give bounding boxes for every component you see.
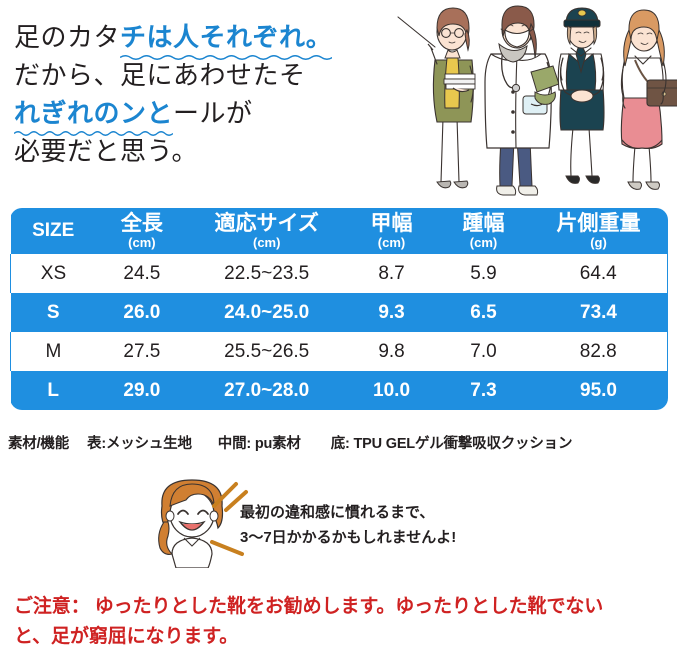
cell-instep: 9.3 [346,293,438,332]
table-body: XS 24.5 22.5~23.5 8.7 5.9 64.4 S 26.0 24… [11,254,668,410]
cell-heel: 7.0 [438,332,530,371]
cell-instep: 8.7 [346,254,438,293]
cell-heel: 7.3 [438,371,530,410]
column-header-size: SIZE [11,208,96,254]
column-header-single-weight: 片側重量 (g) [529,208,667,254]
person-teacher [398,8,475,188]
headline-block: 足のカタチは人それぞれ。 だから、足にあわせたそ れぎれのンとールが 必要だと思… [14,18,434,170]
speech-line-1: 最初の違和感に慣れるまで、 [240,500,660,525]
size-chart-table: SIZE 全長 (cm) 適応サイズ (cm) 甲幅 (cm) 踵幅 (cm) … [10,208,668,410]
person-flight-attendant [558,8,604,183]
headline-line-3-black: ールが [173,98,253,128]
cell-instep: 10.0 [346,371,438,410]
column-header-instep-width-unit: (cm) [346,235,438,250]
cell-instep: 9.8 [346,332,438,371]
column-header-single-weight-unit: (g) [529,235,667,250]
material-bottom: 底: TPU GELゲル衝撃吸収クッション [331,432,573,453]
column-header-instep-width: 甲幅 (cm) [346,208,438,254]
headline-line-1-black: 足のカタ [14,22,120,52]
four-women-illustration: .ln { fill:none; stroke:#3a3330; stroke-… [395,0,677,205]
cell-size: XS [11,254,96,293]
cell-size: L [11,371,96,410]
cell-length: 29.0 [96,371,188,410]
cell-size: M [11,332,96,371]
column-header-length-unit: (cm) [96,235,188,250]
column-header-fit-size-unit: (cm) [188,235,346,250]
cell-heel: 6.5 [438,293,530,332]
headline-line-2-text: だから、足にあわせたそ [14,60,306,90]
material-top: 表:メッシュ生地 [87,432,192,453]
table-row: L 29.0 27.0~28.0 10.0 7.3 95.0 [11,371,668,410]
warning-notice-block: ご注意： ゆったりとした靴をお勧めします。ゆったりとした靴でない と、足が窮屈に… [14,592,674,652]
material-label: 素材/機能 [8,432,69,453]
cell-fit: 24.0~25.0 [188,293,346,332]
column-header-single-weight-main: 片側重量 [529,213,667,235]
column-header-instep-width-main: 甲幅 [346,213,438,235]
speech-line-2: 3〜7日かかるかもしれませんよ! [240,525,660,550]
warning-notice-line-2: と、足が窮屈になります。 [14,622,674,652]
headline-line-4: 必要だと思う。 [14,132,434,170]
cell-weight: 95.0 [529,371,667,410]
person-doctor [485,6,559,195]
cell-weight: 64.4 [529,254,667,293]
person-businesswoman [621,10,677,189]
headline-line-4-text: 必要だと思う。 [14,136,198,166]
column-header-fit-size-main: 適応サイズ [188,213,346,235]
headline-line-1-blue: チは人それぞれ。 [120,22,332,52]
column-header-heel-width-main: 踵幅 [438,213,530,235]
column-header-heel-width-unit: (cm) [438,235,530,250]
cell-length: 27.5 [96,332,188,371]
table-row: XS 24.5 22.5~23.5 8.7 5.9 64.4 [11,254,668,293]
cell-size: S [11,293,96,332]
table-head: SIZE 全長 (cm) 適応サイズ (cm) 甲幅 (cm) 踵幅 (cm) … [11,208,668,254]
column-header-fit-size: 適応サイズ (cm) [188,208,346,254]
table-row: M 27.5 25.5~26.5 9.8 7.0 82.8 [11,332,668,371]
table-header-row: SIZE 全長 (cm) 適応サイズ (cm) 甲幅 (cm) 踵幅 (cm) … [11,208,668,254]
cell-fit: 25.5~26.5 [188,332,346,371]
headline-line-1-underlined: チは人それぞれ。 [120,18,332,56]
material-middle: 中間: pu素材 [218,432,301,453]
column-header-heel-width: 踵幅 (cm) [438,208,530,254]
headline-line-3: れぎれのンとールが [14,94,434,132]
speech-text-block: 最初の違和感に慣れるまで、 3〜7日かかるかもしれませんよ! [240,500,660,550]
column-header-length-main: 全長 [96,213,188,235]
headline-line-1: 足のカタチは人それぞれ。 [14,18,434,56]
cell-heel: 5.9 [438,254,530,293]
cell-length: 24.5 [96,254,188,293]
headline-line-3-blue: れぎれのンと [14,98,173,128]
warning-notice-line-1: ご注意： ゆったりとした靴をお勧めします。ゆったりとした靴でない [14,592,674,622]
headline-line-3-underlined: れぎれのンと [14,94,173,132]
cell-weight: 82.8 [529,332,667,371]
column-header-size-main: SIZE [32,220,74,241]
cell-fit: 22.5~23.5 [188,254,346,293]
cell-length: 26.0 [96,293,188,332]
cell-fit: 27.0~28.0 [188,371,346,410]
column-header-length: 全長 (cm) [96,208,188,254]
table-row: S 26.0 24.0~25.0 9.3 6.5 73.4 [11,293,668,332]
cell-weight: 73.4 [529,293,667,332]
headline-line-2: だから、足にあわせたそ [14,56,434,94]
material-spec-line: 素材/機能表:メッシュ生地中間: pu素材底: TPU GELゲル衝撃吸収クッシ… [8,432,673,453]
